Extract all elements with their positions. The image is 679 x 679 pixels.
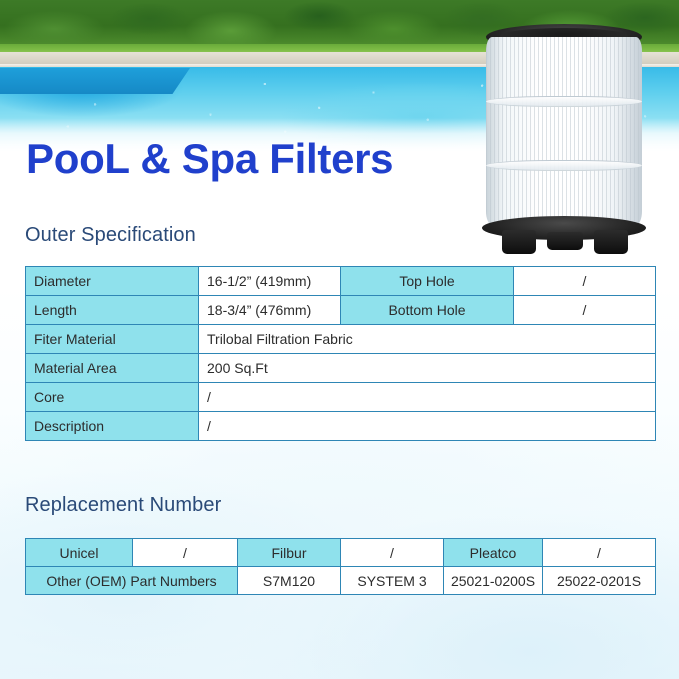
spec-label-top-hole: Top Hole bbox=[341, 267, 514, 296]
table-row: Unicel / Filbur / Pleatco / bbox=[26, 539, 656, 567]
spec-label-bottom-hole: Bottom Hole bbox=[341, 296, 514, 325]
spec-label-description: Description bbox=[26, 412, 199, 441]
brand-value-pleatco: / bbox=[543, 539, 656, 567]
table-row: Description / bbox=[26, 412, 656, 441]
table-row: Material Area 200 Sq.Ft bbox=[26, 354, 656, 383]
spec-label-material-area: Material Area bbox=[26, 354, 199, 383]
spec-label-filter-material: Fiter Material bbox=[26, 325, 199, 354]
spec-label-core: Core bbox=[26, 383, 199, 412]
outer-specification-table: Diameter 16-1/2” (419mm) Top Hole / Leng… bbox=[25, 266, 656, 441]
brand-value-unicel: / bbox=[133, 539, 238, 567]
cartridge-pleated-body bbox=[486, 37, 642, 225]
oem-part-number-1: S7M120 bbox=[238, 567, 341, 595]
table-row: Diameter 16-1/2” (419mm) Top Hole / bbox=[26, 267, 656, 296]
spec-value-description: / bbox=[199, 412, 656, 441]
section-title-outer-specification: Outer Specification bbox=[25, 224, 196, 247]
brand-label-pleatco: Pleatco bbox=[444, 539, 543, 567]
spec-value-bottom-hole: / bbox=[514, 296, 656, 325]
oem-part-number-4: 25022-0201S bbox=[543, 567, 656, 595]
brand-value-filbur: / bbox=[341, 539, 444, 567]
spec-value-filter-material: Trilobal Filtration Fabric bbox=[199, 325, 656, 354]
cartridge-leg bbox=[594, 230, 628, 254]
cartridge-leg bbox=[502, 230, 536, 254]
table-row: Core / bbox=[26, 383, 656, 412]
oem-part-number-2: SYSTEM 3 bbox=[341, 567, 444, 595]
table-row: Other (OEM) Part Numbers S7M120 SYSTEM 3… bbox=[26, 567, 656, 595]
replacement-number-table: Unicel / Filbur / Pleatco / Other (OEM) … bbox=[25, 538, 656, 595]
cartridge-band-lower bbox=[486, 160, 642, 171]
spec-value-diameter: 16-1/2” (419mm) bbox=[199, 267, 341, 296]
spec-value-top-hole: / bbox=[514, 267, 656, 296]
spec-label-diameter: Diameter bbox=[26, 267, 199, 296]
spec-value-length: 18-3/4” (476mm) bbox=[199, 296, 341, 325]
spec-label-length: Length bbox=[26, 296, 199, 325]
brand-label-filbur: Filbur bbox=[238, 539, 341, 567]
table-row: Length 18-3/4” (476mm) Bottom Hole / bbox=[26, 296, 656, 325]
page-title: PooL & Spa Filters bbox=[26, 135, 393, 183]
section-title-replacement-number: Replacement Number bbox=[25, 494, 221, 517]
table-row: Fiter Material Trilobal Filtration Fabri… bbox=[26, 325, 656, 354]
filter-cartridge-image bbox=[478, 24, 650, 254]
oem-part-numbers-label: Other (OEM) Part Numbers bbox=[26, 567, 238, 595]
spec-value-material-area: 200 Sq.Ft bbox=[199, 354, 656, 383]
brand-label-unicel: Unicel bbox=[26, 539, 133, 567]
oem-part-number-3: 25021-0200S bbox=[444, 567, 543, 595]
spec-value-core: / bbox=[199, 383, 656, 412]
pool-edge-wall bbox=[0, 68, 190, 94]
cartridge-leg bbox=[547, 232, 583, 250]
cartridge-band-upper bbox=[486, 96, 642, 107]
